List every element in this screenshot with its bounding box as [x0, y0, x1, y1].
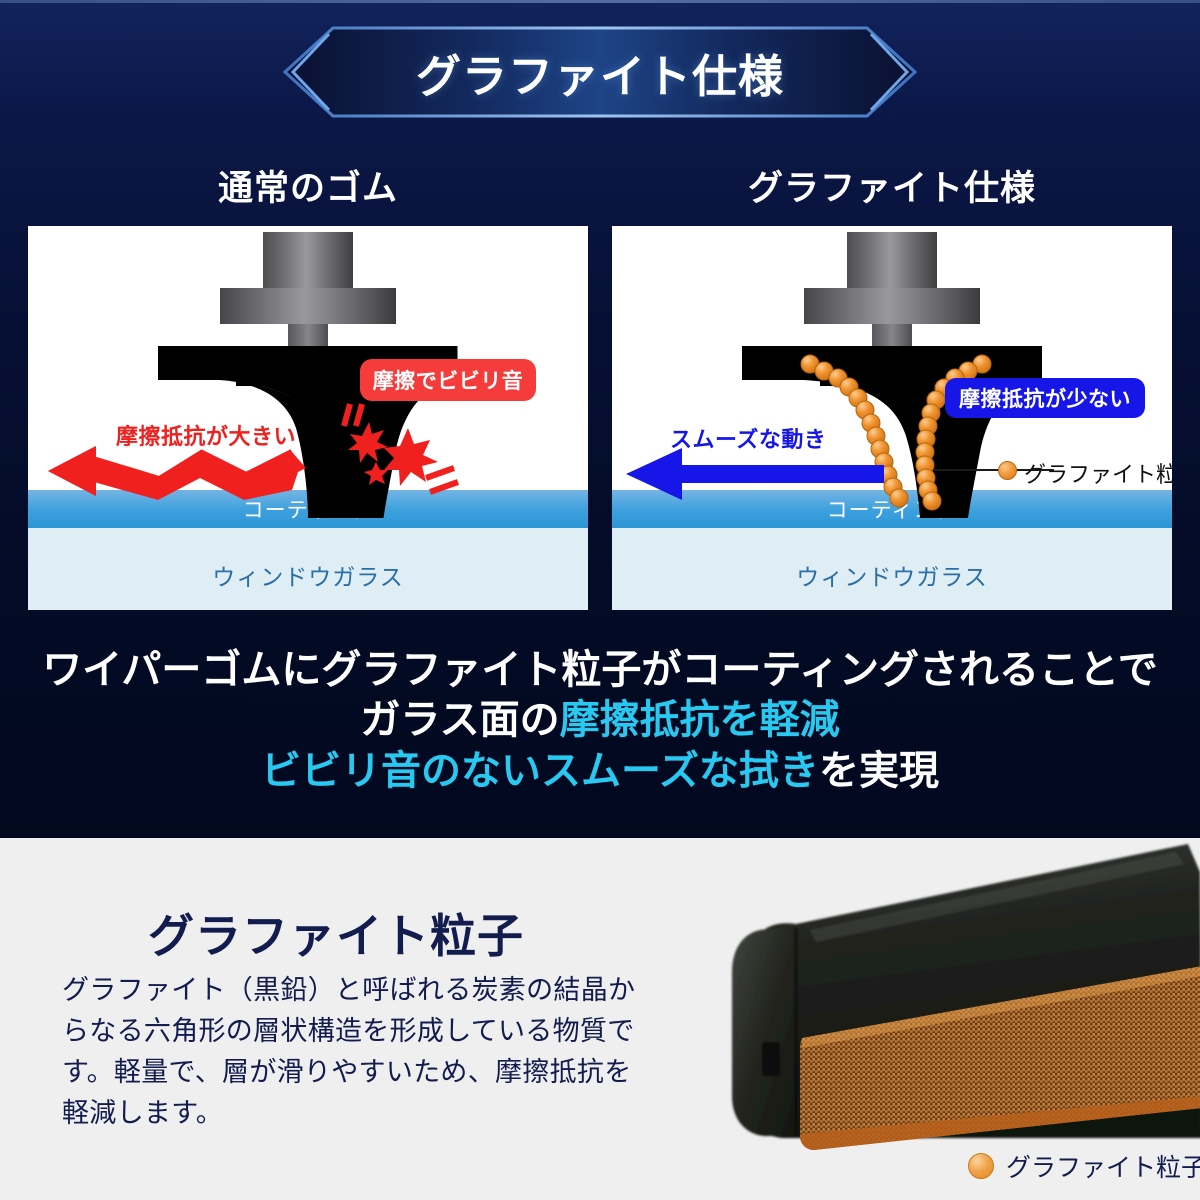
bottom-section-body: グラファイト（黒鉛）と呼ばれる炭素の結晶からなる六角形の層状構造を形成している物… — [62, 970, 637, 1134]
diagram-panel-graphite: コーティング ウィンドウガラス — [612, 226, 1172, 610]
arrow-smooth-movement-icon — [626, 448, 886, 500]
arrow-high-friction-icon — [48, 444, 313, 500]
graphite-legend-dot-icon — [968, 1153, 994, 1179]
top-comparison-section: グラファイト仕様 通常のゴム グラファイト仕様 コーティング ウィンドウガラス … — [0, 0, 1200, 838]
badge-friction-noise: 摩擦でビビリ音 — [360, 359, 536, 401]
diagram-panel-normal-rubber: コーティング ウィンドウガラス 摩擦でビビリ音 摩擦抵抗が大きい — [28, 226, 588, 610]
panel-header-graphite: グラファイト仕様 — [612, 160, 1172, 211]
summary-line-3-highlight-b: スムーズな拭き — [541, 749, 819, 793]
summary-line-2-highlight: 摩擦抵抗を軽減 — [560, 698, 840, 742]
banner-title: グラファイト仕様 — [283, 26, 917, 118]
wiper-blade-product-photo — [610, 838, 1200, 1200]
panel-header-normal: 通常のゴム — [28, 160, 588, 211]
badge-low-friction: 摩擦抵抗が少ない — [945, 378, 1145, 418]
wiper-metal-top-left — [263, 232, 353, 288]
graphite-callout-label: グラファイト粒子 — [1024, 457, 1172, 489]
title-banner: グラファイト仕様 — [283, 26, 917, 118]
summary-line-3: ビビリ音のないスムーズな拭きを実現 — [0, 746, 1200, 796]
graphite-particle-dot-icon — [998, 461, 1017, 480]
graphite-legend: グラファイト粒子 — [968, 1148, 1200, 1184]
glass-layer-left: ウィンドウガラス — [28, 528, 588, 610]
vibration-spark-icon — [338, 402, 468, 504]
wiper-metal-flange-left — [220, 288, 396, 324]
summary-line-1: ワイパーゴムにグラファイト粒子がコーティングされることで — [0, 645, 1200, 695]
glass-label-left: ウィンドウガラス — [212, 558, 404, 592]
summary-text-block: ワイパーゴムにグラファイト粒子がコーティングされることで ガラス面の摩擦抵抗を軽… — [0, 645, 1200, 796]
summary-line-3-highlight-a: ビビリ音のない — [261, 749, 541, 793]
bottom-description-section: グラファイト粒子 グラファイト（黒鉛）と呼ばれる炭素の結晶からなる六角形の層状構… — [0, 838, 1200, 1200]
bottom-section-title: グラファイト粒子 — [148, 900, 524, 966]
summary-line-2-plain: ガラス面の — [360, 698, 559, 742]
summary-line-2: ガラス面の摩擦抵抗を軽減 — [0, 695, 1200, 745]
graphite-particles-group — [612, 226, 1172, 610]
graphite-legend-label: グラファイト粒子 — [1006, 1148, 1200, 1184]
summary-line-3-plain: を実現 — [819, 749, 939, 793]
